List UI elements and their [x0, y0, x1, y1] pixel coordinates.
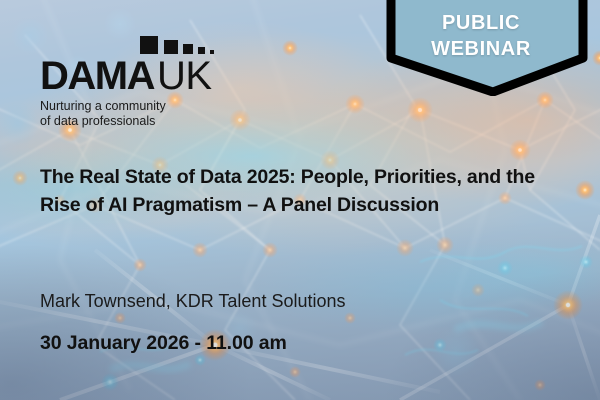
logo-squares-icon — [140, 34, 260, 54]
public-webinar-badge: PUBLIC WEBINAR — [381, 0, 593, 96]
event-title: The Real State of Data 2025: People, Pri… — [40, 163, 560, 219]
event-speaker: Mark Townsend, KDR Talent Solutions — [40, 289, 346, 313]
logo-name-light: UK — [157, 54, 212, 98]
dama-uk-logo: DAMAUK Nurturing a community of data pro… — [40, 34, 260, 129]
logo-tagline-line-2: of data professionals — [40, 114, 260, 129]
badge-text: PUBLIC WEBINAR — [381, 10, 593, 62]
logo-wordmark: DAMAUK — [40, 56, 260, 96]
logo-tagline-line-1: Nurturing a community — [40, 99, 260, 114]
logo-name-bold: DAMA — [40, 54, 154, 98]
badge-line-1: PUBLIC — [381, 10, 581, 36]
webinar-promo-banner: PUBLIC WEBINAR DAMAUK Nurturing a commun… — [0, 0, 600, 400]
logo-tagline: Nurturing a community of data profession… — [40, 99, 260, 129]
event-date-time: 30 January 2026 - 11.00 am — [40, 330, 287, 356]
badge-line-2: WEBINAR — [381, 36, 581, 62]
